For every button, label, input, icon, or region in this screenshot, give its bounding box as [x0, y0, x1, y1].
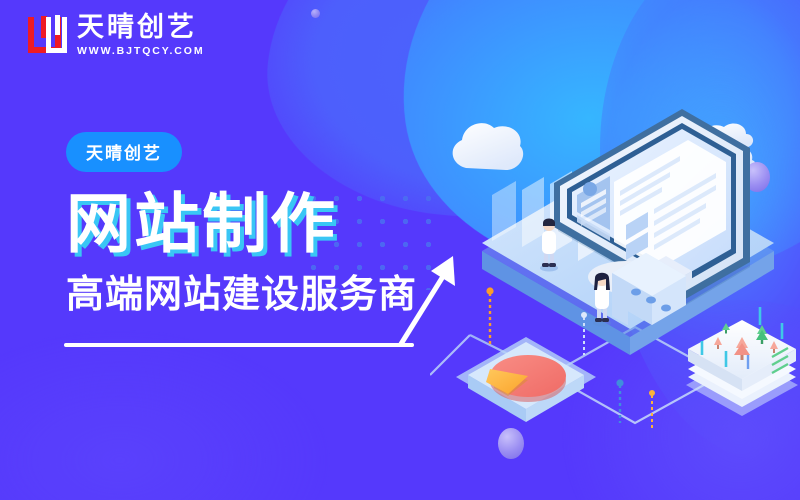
blob-lower-left — [0, 330, 330, 500]
page-subtitle: 高端网站建设服务商 — [66, 276, 466, 314]
banner-root: 天晴创艺 WWW.BJTQCY.COM — [0, 0, 800, 500]
logo-text: 天晴创艺 WWW.BJTQCY.COM — [77, 14, 205, 57]
divider-rule — [64, 343, 414, 347]
logo-company-name: 天晴创艺 — [77, 14, 205, 41]
brand-badge: 天晴创艺 — [66, 132, 182, 172]
logo[interactable]: 天晴创艺 WWW.BJTQCY.COM — [28, 14, 205, 57]
sphere-small-top — [311, 9, 320, 18]
logo-website-url: WWW.BJTQCY.COM — [77, 46, 205, 57]
pie-chart-platform — [456, 337, 596, 422]
isometric-illustration — [430, 55, 800, 455]
stacked-tower — [686, 307, 798, 416]
copy-block: 天晴创艺 网站制作 高端网站建设服务商 — [66, 132, 466, 314]
page-title: 网站制作 — [66, 191, 466, 256]
logo-mark-icon — [28, 15, 68, 55]
